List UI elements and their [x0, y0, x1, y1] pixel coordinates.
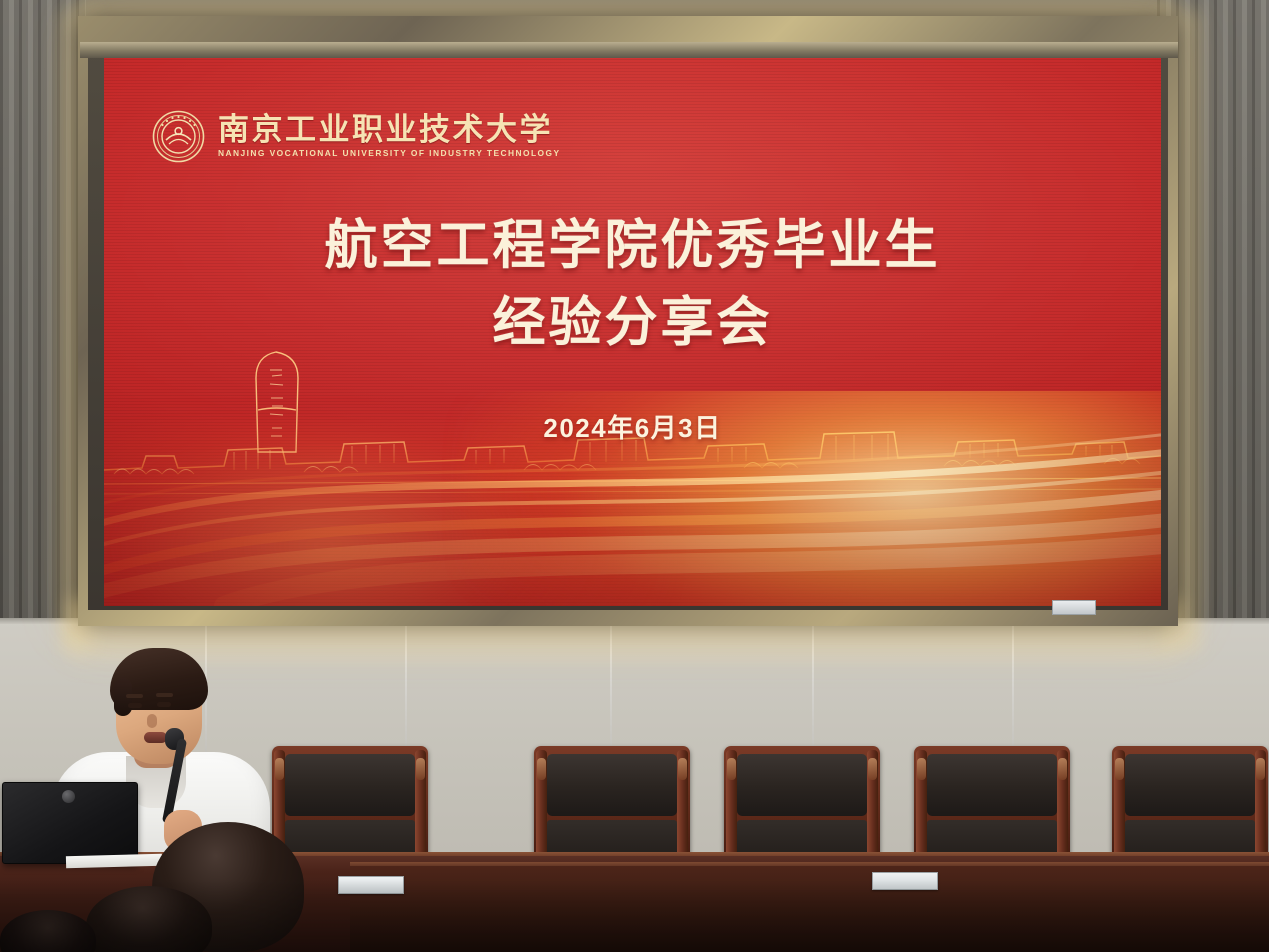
university-name-block: 南京工业职业技术大学 NANJING VOCATIONAL UNIVERSITY… [218, 115, 561, 159]
screen-bezel-top [80, 42, 1178, 58]
university-name-cn: 南京工业职业技术大学 [218, 115, 561, 147]
university-seal-emblem [152, 110, 205, 163]
speaker-mouth [144, 732, 167, 743]
table-nameplate [338, 876, 404, 894]
paper-documents [66, 854, 162, 869]
presentation-room-photo: 南京工业职业技术大学 NANJING VOCATIONAL UNIVERSITY… [0, 0, 1269, 952]
speaker-eye [128, 703, 142, 708]
slide-title-line-2: 经验分享会 [104, 285, 1161, 362]
laptop-logo-icon [62, 790, 75, 803]
conference-table-front [350, 866, 1269, 952]
speaker-eyebrow [156, 693, 173, 697]
wall-slat-panel-left [0, 0, 86, 660]
slide-title-line-1: 航空工程学院优秀毕业生 [104, 208, 1161, 285]
table-nameplate [872, 872, 938, 890]
led-presentation-screen[interactable]: 南京工业职业技术大学 NANJING VOCATIONAL UNIVERSITY… [104, 58, 1161, 606]
speaker-eyebrow [126, 694, 143, 698]
laptop[interactable] [2, 782, 138, 864]
university-logo-lockup: 南京工业职业技术大学 NANJING VOCATIONAL UNIVERSITY… [152, 110, 561, 163]
slide-title-block: 航空工程学院优秀毕业生 经验分享会 2024年6月3日 [104, 208, 1161, 445]
speaker-hair [110, 648, 208, 710]
screen-bezel-label [1052, 600, 1096, 615]
speaker-nose [147, 714, 157, 728]
slide-date: 2024年6月3日 [104, 408, 1161, 445]
speaker-eye [157, 702, 171, 707]
university-name-en: NANJING VOCATIONAL UNIVERSITY OF INDUSTR… [218, 148, 561, 158]
